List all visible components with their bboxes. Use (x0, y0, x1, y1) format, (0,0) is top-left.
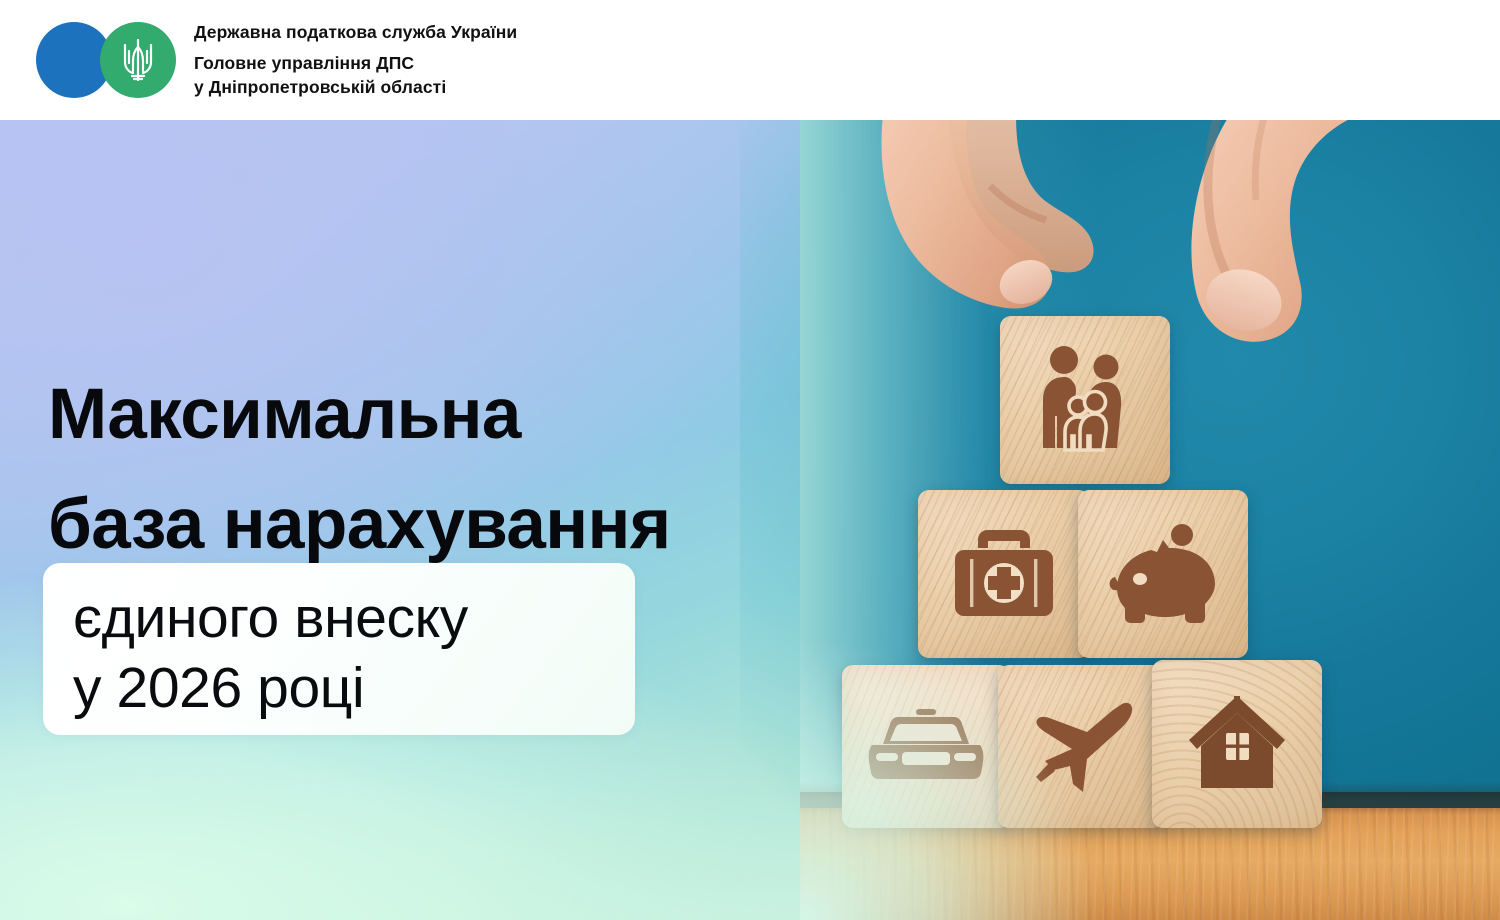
subtitle-line-1: єдиного внеску (73, 583, 607, 653)
dps-logo (36, 22, 176, 98)
subtitle-text: єдиного внеску у 2026 році (73, 583, 607, 723)
subtitle-card: єдиного внеску у 2026 році (43, 563, 635, 735)
family-icon (1033, 344, 1137, 456)
wooden-blocks-photo (800, 120, 1500, 920)
subtitle-line-2: у 2026 році (73, 653, 607, 723)
house-icon (1183, 694, 1291, 794)
photo-bottomleft-fade (800, 590, 1130, 920)
org-name-line-2: Головне управління ДПС (194, 52, 517, 76)
poster-root: Максимальна база нарахування єдиного вне… (0, 0, 1500, 920)
ukrainian-trident-icon (121, 38, 155, 82)
header-org-text: Державна податкова служба України Головн… (194, 21, 517, 100)
wooden-block-house (1152, 660, 1322, 828)
site-header: Державна податкова служба України Головн… (0, 0, 1500, 120)
logo-green-circle (100, 22, 176, 98)
wooden-block-family (1000, 316, 1170, 484)
org-name-line-3: у Дніпропетровській області (194, 76, 517, 100)
page-title: Максимальна база нарахування (48, 360, 838, 580)
headline-line-1: Максимальна (48, 360, 838, 470)
org-name-line-1: Державна податкова служба України (194, 21, 517, 44)
